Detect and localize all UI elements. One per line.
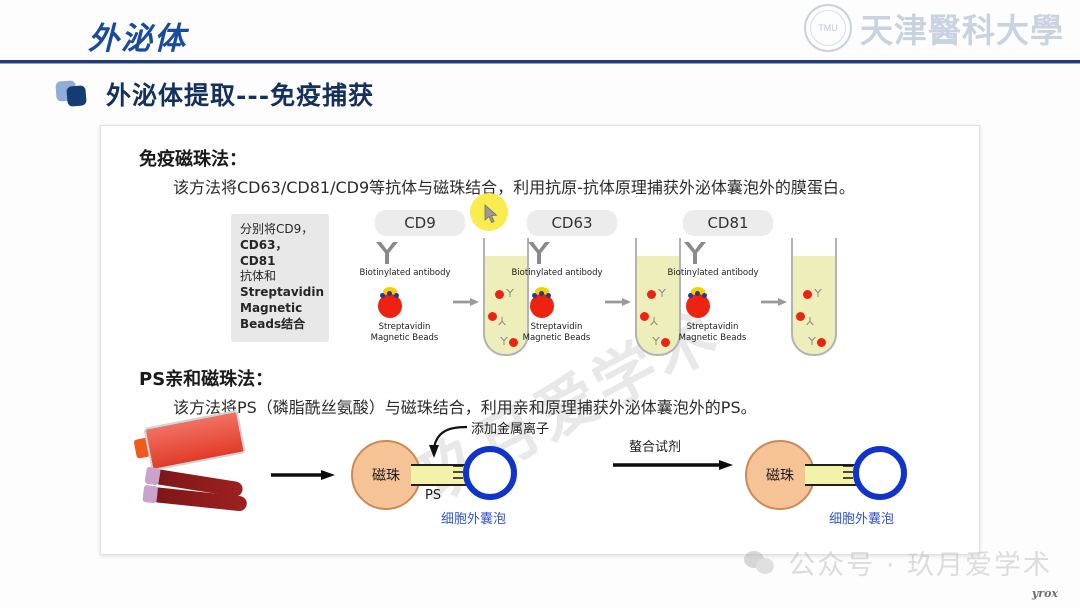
ps-heading: PS亲和磁珠法： — [139, 365, 273, 391]
arrow-step-1-icon — [271, 470, 335, 480]
bead-caption-line-2: Magnetic Beads — [371, 333, 439, 343]
content-card: 玖月爱学术 免疫磁珠法： 该方法将CD63/CD81/CD9等抗体与磁珠结合，利… — [100, 125, 980, 555]
corner-watermark: yrox — [1032, 587, 1058, 600]
antibody-icon — [681, 240, 709, 266]
university-logo: TMU 天津醫科大學 — [804, 4, 1064, 52]
grey-box-line-2: CD63，CD81 — [240, 238, 287, 268]
blood-tubes-icon — [141, 474, 261, 522]
mouse-cursor-icon — [484, 204, 498, 224]
chip-cd63: CD63 — [527, 210, 617, 236]
immuno-body-text: 该方法将CD63/CD81/CD9等抗体与磁珠结合，利用抗原-抗体原理捕获外泌体… — [173, 174, 855, 198]
wechat-icon — [744, 551, 776, 575]
ps-body-text: 该方法将PS（磷脂酰丝氨酸）与磁珠结合，利用亲和原理捕获外泌体囊泡外的PS。 — [173, 394, 757, 418]
streptavidin-bead-icon — [683, 284, 713, 318]
footer-watermark-label: 公众号 · 玖月爱学术 — [788, 543, 1052, 582]
two-squares-icon — [56, 79, 88, 109]
bead-caption: Streptavidin Magnetic Beads — [489, 322, 624, 343]
bead-caption-line-2: Magnetic Beads — [523, 333, 591, 343]
antibody-caption: Biotinylated antibody — [493, 268, 621, 278]
arrow-step-2-icon — [613, 460, 733, 470]
grey-box-line-4: Streptavidin — [240, 285, 324, 299]
metal-ion-label: 添加金属离子 — [471, 418, 549, 437]
bead-caption: Streptavidin Magnetic Beads — [337, 322, 472, 343]
ps-diagram: 磁珠 PS 细胞外囊泡 添加金属离子 螯合试剂 磁珠 — [123, 418, 963, 546]
bead-caption-line-1: Streptavidin — [531, 322, 583, 332]
vesicle-1-label: 细胞外囊泡 — [441, 508, 506, 527]
streptavidin-bead-icon — [527, 284, 557, 318]
grey-box-line-3: 抗体和 — [240, 269, 276, 283]
grey-box-line-6: Beads结合 — [240, 317, 305, 331]
culture-flask-icon — [132, 411, 243, 476]
section-subtitle: 外泌体提取---免疫捕获 — [56, 76, 374, 112]
arrow-right-icon — [761, 298, 787, 306]
grey-box-line-1: 分别将CD9， — [240, 222, 313, 236]
vesicle-1-icon — [463, 446, 517, 500]
antibody-icon — [373, 240, 401, 266]
chip-cd81: CD81 — [683, 210, 773, 236]
antibody-icon — [525, 240, 553, 266]
footer-watermark: 公众号 · 玖月爱学术 — [744, 543, 1052, 582]
seal-label: TMU — [818, 24, 838, 33]
university-name: 天津醫科大學 — [860, 4, 1064, 52]
subtitle-label: 外泌体提取---免疫捕获 — [106, 76, 374, 112]
university-seal-icon: TMU — [804, 4, 852, 52]
antibody-caption: Biotinylated antibody — [341, 268, 469, 278]
vesicle-2-icon — [853, 446, 907, 500]
tube-cd81 — [791, 238, 837, 356]
chelator-label: 螯合试剂 — [629, 436, 681, 455]
curved-arrow-icon — [423, 422, 469, 460]
slide-canvas: 外泌体 TMU 天津醫科大學 外泌体提取---免疫捕获 玖月爱学术 免疫磁珠法：… — [0, 0, 1080, 608]
bead-caption-line-2: Magnetic Beads — [679, 333, 747, 343]
immuno-heading: 免疫磁珠法： — [139, 145, 247, 171]
panel-cd81: CD81 Biotinylated antibody Streptavidin … — [657, 210, 847, 358]
vesicle-2-label: 细胞外囊泡 — [829, 508, 894, 527]
page-title: 外泌体 — [88, 13, 187, 58]
bead-caption-line-1: Streptavidin — [687, 322, 739, 332]
header-divider-thin — [0, 63, 1080, 64]
arrow-right-icon — [605, 298, 631, 306]
antibody-caption: Biotinylated antibody — [649, 268, 777, 278]
arrow-right-icon — [453, 298, 479, 306]
grey-info-box: 分别将CD9， CD63，CD81 抗体和 Streptavidin Magne… — [231, 214, 329, 342]
magnetic-bead-1-label: 磁珠 — [372, 465, 400, 485]
magnetic-bead-2-label: 磁珠 — [766, 465, 794, 485]
bead-caption: Streptavidin Magnetic Beads — [645, 322, 780, 343]
streptavidin-bead-icon — [375, 284, 405, 318]
slide-header: 外泌体 TMU 天津醫科大學 — [0, 0, 1080, 63]
grey-box-line-5: Magnetic — [240, 301, 302, 315]
ps-label: PS — [425, 488, 441, 503]
bead-caption-line-1: Streptavidin — [379, 322, 431, 332]
chip-cd9: CD9 — [375, 210, 465, 236]
